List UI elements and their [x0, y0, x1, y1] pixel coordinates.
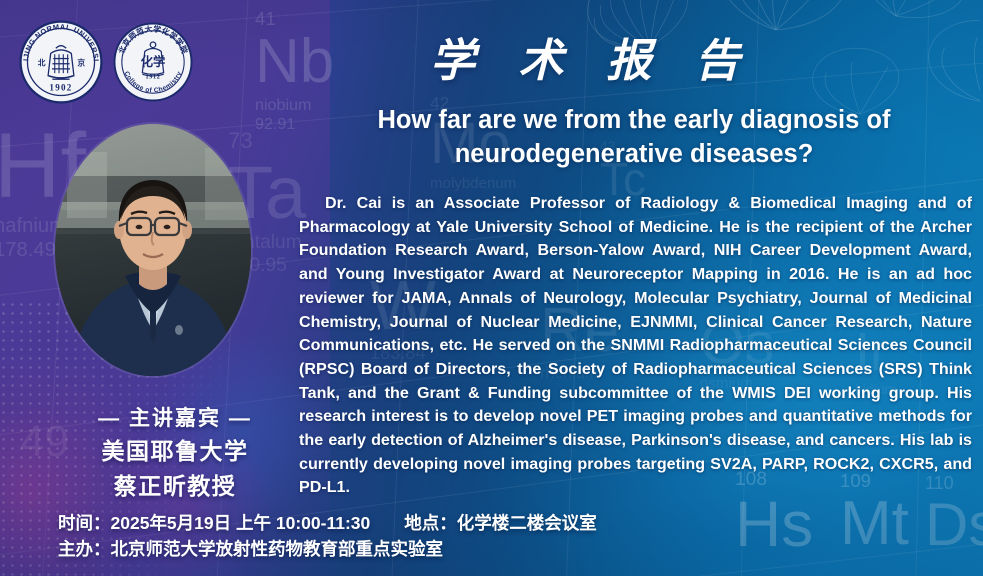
svg-text:北: 北: [38, 57, 46, 67]
svg-text:1912: 1912: [146, 74, 161, 80]
event-details: 时间：2025年5月19日 上午 10:00-11:30地点：化学楼二楼会议室 …: [58, 510, 597, 562]
place-label: 地点：: [404, 513, 457, 533]
page-title-english: How far are we from the early diagnosis …: [300, 104, 968, 171]
seminar-poster: 41Nbniobium92.91 42Momolybdenum 43Tc Hfh…: [0, 0, 983, 576]
speaker-portrait: [55, 124, 251, 376]
logo-group: BEIJING NORMAL UNIVERSITY 北 京 1902: [18, 19, 194, 105]
speaker-biography: Dr. Cai is an Associate Professor of Rad…: [299, 192, 972, 500]
speaker-name: 蔡正昕教授: [62, 470, 288, 502]
event-host-row: 主办：北京师范大学放射性药物教育部重点实验室: [58, 536, 597, 562]
svg-text:京: 京: [77, 57, 85, 67]
place-value: 化学楼二楼会议室: [457, 513, 597, 533]
event-time-row: 时间：2025年5月19日 上午 10:00-11:30地点：化学楼二楼会议室: [58, 510, 597, 536]
portrait-illustration: [55, 124, 251, 376]
host-value: 北京师范大学放射性药物教育部重点实验室: [111, 539, 444, 559]
speaker-affiliation: 美国耶鲁大学: [62, 435, 288, 467]
speaker-info: — 主讲嘉宾 — 美国耶鲁大学 蔡正昕教授: [62, 405, 288, 502]
time-label: 时间：: [58, 513, 111, 533]
page-title-chinese: 学 术 报 告: [430, 24, 756, 89]
college-of-chemistry-logo-icon: 北京师范大学化学学院 College of Chemistry 化学 1912: [112, 21, 194, 103]
svg-text:1902: 1902: [49, 82, 72, 92]
speaker-role-label: — 主讲嘉宾 —: [62, 405, 288, 433]
beijing-normal-university-logo-icon: BEIJING NORMAL UNIVERSITY 北 京 1902: [18, 19, 104, 105]
time-value: 2025年5月19日 上午 10:00-11:30: [111, 513, 371, 533]
speaker-portrait-frame: [55, 124, 251, 376]
host-label: 主办：: [58, 539, 111, 559]
svg-text:化学: 化学: [141, 54, 166, 69]
